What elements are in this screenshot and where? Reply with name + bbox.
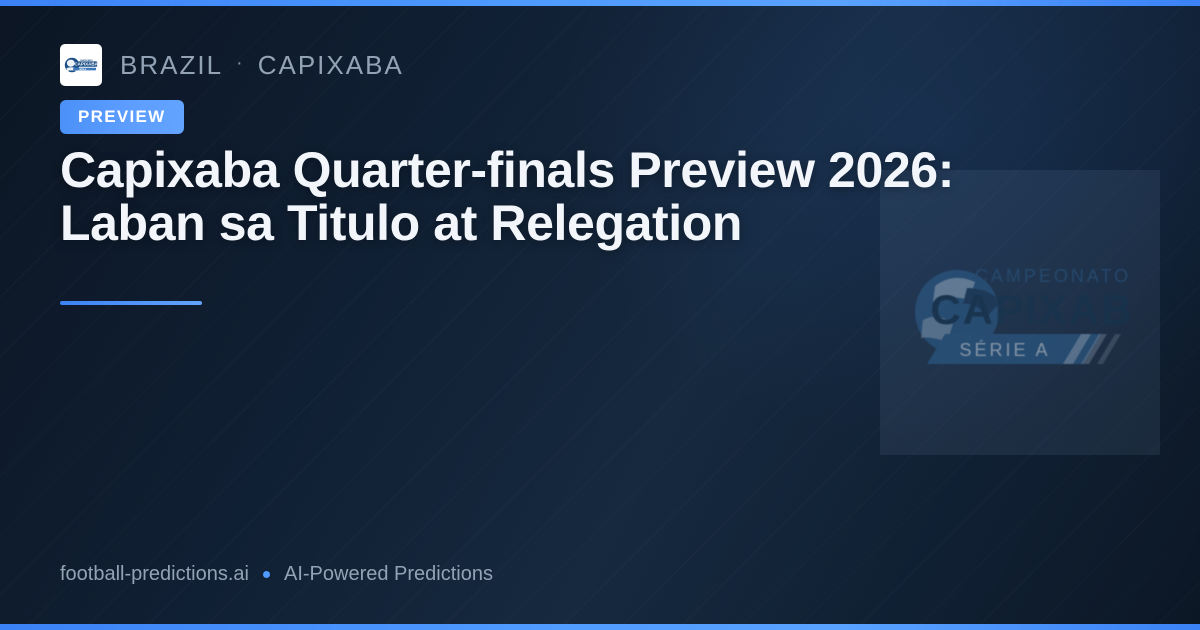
footer-tagline: AI-Powered Predictions xyxy=(284,563,493,586)
bottom-accent-bar xyxy=(0,624,1200,630)
svg-text:CAMPEONATO: CAMPEONATO xyxy=(80,59,93,62)
campeonato-capixaba-serie-a-logo-icon: CAMPEONATO CAPIXABA SÉRIE A xyxy=(905,238,1135,388)
top-accent-bar xyxy=(0,0,1200,6)
status-badge: PREVIEW xyxy=(60,100,184,134)
capixaba-league-logo-icon: CAPIXABA SÉRIE A CAMPEONATO xyxy=(60,44,102,86)
breadcrumb-league: CAPIXABA xyxy=(258,50,404,81)
svg-text:CAMPEONATO: CAMPEONATO xyxy=(975,266,1131,286)
svg-text:CAPIXABA: CAPIXABA xyxy=(74,62,98,67)
svg-text:SÉRIE A: SÉRIE A xyxy=(959,340,1050,360)
breadcrumb-separator: · xyxy=(236,53,245,73)
footer: football-predictions.ai AI-Powered Predi… xyxy=(60,563,493,586)
footer-site: football-predictions.ai xyxy=(60,563,249,586)
bullet-dot-icon xyxy=(263,571,270,578)
svg-text:CAPIXABA: CAPIXABA xyxy=(930,286,1135,333)
breadcrumb-text: BRAZIL · CAPIXABA xyxy=(120,50,404,81)
breadcrumb-country: BRAZIL xyxy=(120,50,223,81)
og-card: CAPIXABA SÉRIE A CAMPEONATO BRAZIL · CAP… xyxy=(0,0,1200,630)
title-accent-line xyxy=(60,301,202,305)
page-title: Capixaba Quarter-finals Preview 2026: La… xyxy=(60,144,1060,249)
breadcrumb: CAPIXABA SÉRIE A CAMPEONATO BRAZIL · CAP… xyxy=(60,44,404,86)
